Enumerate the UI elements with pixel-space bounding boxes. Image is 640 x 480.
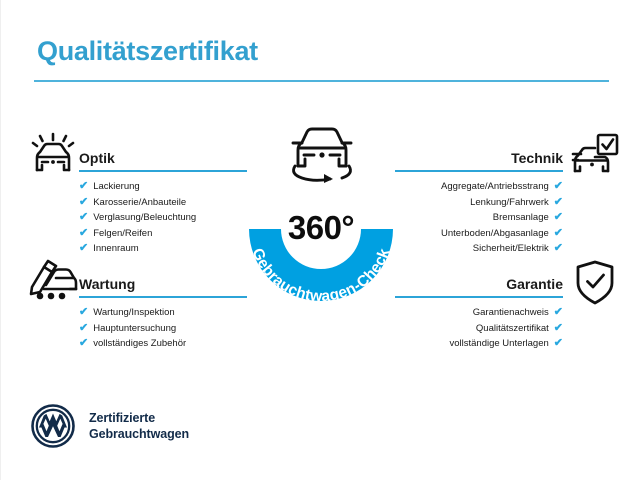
- section-optik: Optik ✔Lackierung ✔Karosserie/Anbauteile…: [79, 142, 247, 257]
- list-item-label: Lackierung: [93, 179, 139, 195]
- list-item: ✔Felgen/Reifen: [79, 226, 247, 242]
- list-item-label: Hauptuntersuchung: [93, 321, 176, 337]
- list-item-label: Garantienachweis: [473, 305, 549, 321]
- footer-line-2: Gebrauchtwagen: [89, 426, 189, 442]
- checklist-optik: ✔Lackierung ✔Karosserie/Anbauteile ✔Verg…: [79, 179, 247, 257]
- section-header-technik: Technik: [395, 142, 563, 172]
- list-item-label: vollständiges Zubehör: [93, 336, 186, 352]
- list-item: ✔Lackierung: [79, 179, 247, 195]
- check-icon: ✔: [554, 243, 563, 254]
- list-item: Qualitätszertifikat✔: [395, 321, 563, 337]
- car-checkbox-icon: [571, 133, 619, 180]
- section-header-garantie: Garantie: [395, 268, 563, 298]
- list-item: ✔Hauptuntersuchung: [79, 321, 247, 337]
- check-icon: ✔: [554, 197, 563, 208]
- check-icon: ✔: [79, 197, 88, 208]
- list-item-label: Aggregate/Antriebsstrang: [441, 179, 549, 195]
- list-item-label: Sicherheit/Elektrik: [473, 241, 549, 257]
- check-icon: ✔: [554, 338, 563, 349]
- section-title-optik: Optik: [79, 150, 115, 166]
- list-item: Garantienachweis✔: [395, 305, 563, 321]
- footer-branding: Zertifizierte Gebrauchtwagen: [31, 404, 189, 448]
- section-title-garantie: Garantie: [506, 276, 563, 292]
- checklist-technik: Aggregate/Antriebsstrang✔ Lenkung/Fahrwe…: [395, 179, 563, 257]
- check-icon: ✔: [554, 323, 563, 334]
- list-item: Unterboden/Abgasanlage✔: [395, 226, 563, 242]
- checklist-wartung: ✔Wartung/Inspektion ✔Hauptuntersuchung ✔…: [79, 305, 247, 352]
- car-rotate-icon: [280, 122, 364, 184]
- car-shine-icon: [29, 132, 77, 179]
- list-item-label: Qualitätszertifikat: [476, 321, 549, 337]
- vw-logo: [31, 404, 75, 448]
- quality-certificate-page: Qualitätszertifikat: [0, 0, 640, 480]
- list-item: vollständige Unterlagen✔: [395, 336, 563, 352]
- section-divider-wartung: [79, 296, 247, 298]
- list-item-label: vollständige Unterlagen: [449, 336, 548, 352]
- title-divider: [34, 80, 609, 82]
- section-title-wartung: Wartung: [79, 276, 135, 292]
- list-item: ✔Innenraum: [79, 241, 247, 257]
- list-item: ✔Wartung/Inspektion: [79, 305, 247, 321]
- section-title-technik: Technik: [511, 150, 563, 166]
- list-item-label: Unterboden/Abgasanlage: [441, 226, 549, 242]
- check-icon: ✔: [79, 323, 88, 334]
- shield-check-icon: [574, 260, 616, 310]
- footer-text: Zertifizierte Gebrauchtwagen: [89, 410, 189, 442]
- section-header-wartung: Wartung: [79, 268, 247, 298]
- list-item: ✔Karosserie/Anbauteile: [79, 195, 247, 211]
- check-icon: ✔: [554, 307, 563, 318]
- section-divider-optik: [79, 170, 247, 172]
- check-icon: ✔: [79, 212, 88, 223]
- list-item-label: Karosserie/Anbauteile: [93, 195, 186, 211]
- footer-line-1: Zertifizierte: [89, 410, 189, 426]
- check-icon: ✔: [79, 307, 88, 318]
- list-item: Lenkung/Fahrwerk✔: [395, 195, 563, 211]
- badge-value: 360°: [230, 209, 412, 247]
- list-item-label: Bremsanlage: [493, 210, 549, 226]
- list-item: Bremsanlage✔: [395, 210, 563, 226]
- list-item-label: Innenraum: [93, 241, 138, 257]
- list-item: ✔Verglasung/Beleuchtung: [79, 210, 247, 226]
- check-icon: ✔: [79, 228, 88, 239]
- list-item: Sicherheit/Elektrik✔: [395, 241, 563, 257]
- section-header-optik: Optik: [79, 142, 247, 172]
- section-technik: Technik Aggregate/Antriebsstrang✔ Lenkun…: [395, 142, 563, 257]
- section-divider-garantie: [395, 296, 563, 298]
- check-icon: ✔: [79, 243, 88, 254]
- list-item: ✔vollständiges Zubehör: [79, 336, 247, 352]
- list-item-label: Lenkung/Fahrwerk: [470, 195, 549, 211]
- section-garantie: Garantie Garantienachweis✔ Qualitätszert…: [395, 268, 563, 352]
- list-item-label: Verglasung/Beleuchtung: [93, 210, 196, 226]
- check-icon: ✔: [554, 181, 563, 192]
- list-item: Aggregate/Antriebsstrang✔: [395, 179, 563, 195]
- list-item-label: Wartung/Inspektion: [93, 305, 175, 321]
- section-divider-technik: [395, 170, 563, 172]
- check-icon: ✔: [554, 212, 563, 223]
- list-item-label: Felgen/Reifen: [93, 226, 152, 242]
- check-icon: ✔: [554, 228, 563, 239]
- checklist-garantie: Garantienachweis✔ Qualitätszertifikat✔ v…: [395, 305, 563, 352]
- section-wartung: Wartung ✔Wartung/Inspektion ✔Hauptunters…: [79, 268, 247, 352]
- page-title: Qualitätszertifikat: [37, 36, 258, 67]
- service-pen-car-icon: [26, 259, 78, 306]
- check-icon: ✔: [79, 338, 88, 349]
- check-icon: ✔: [79, 181, 88, 192]
